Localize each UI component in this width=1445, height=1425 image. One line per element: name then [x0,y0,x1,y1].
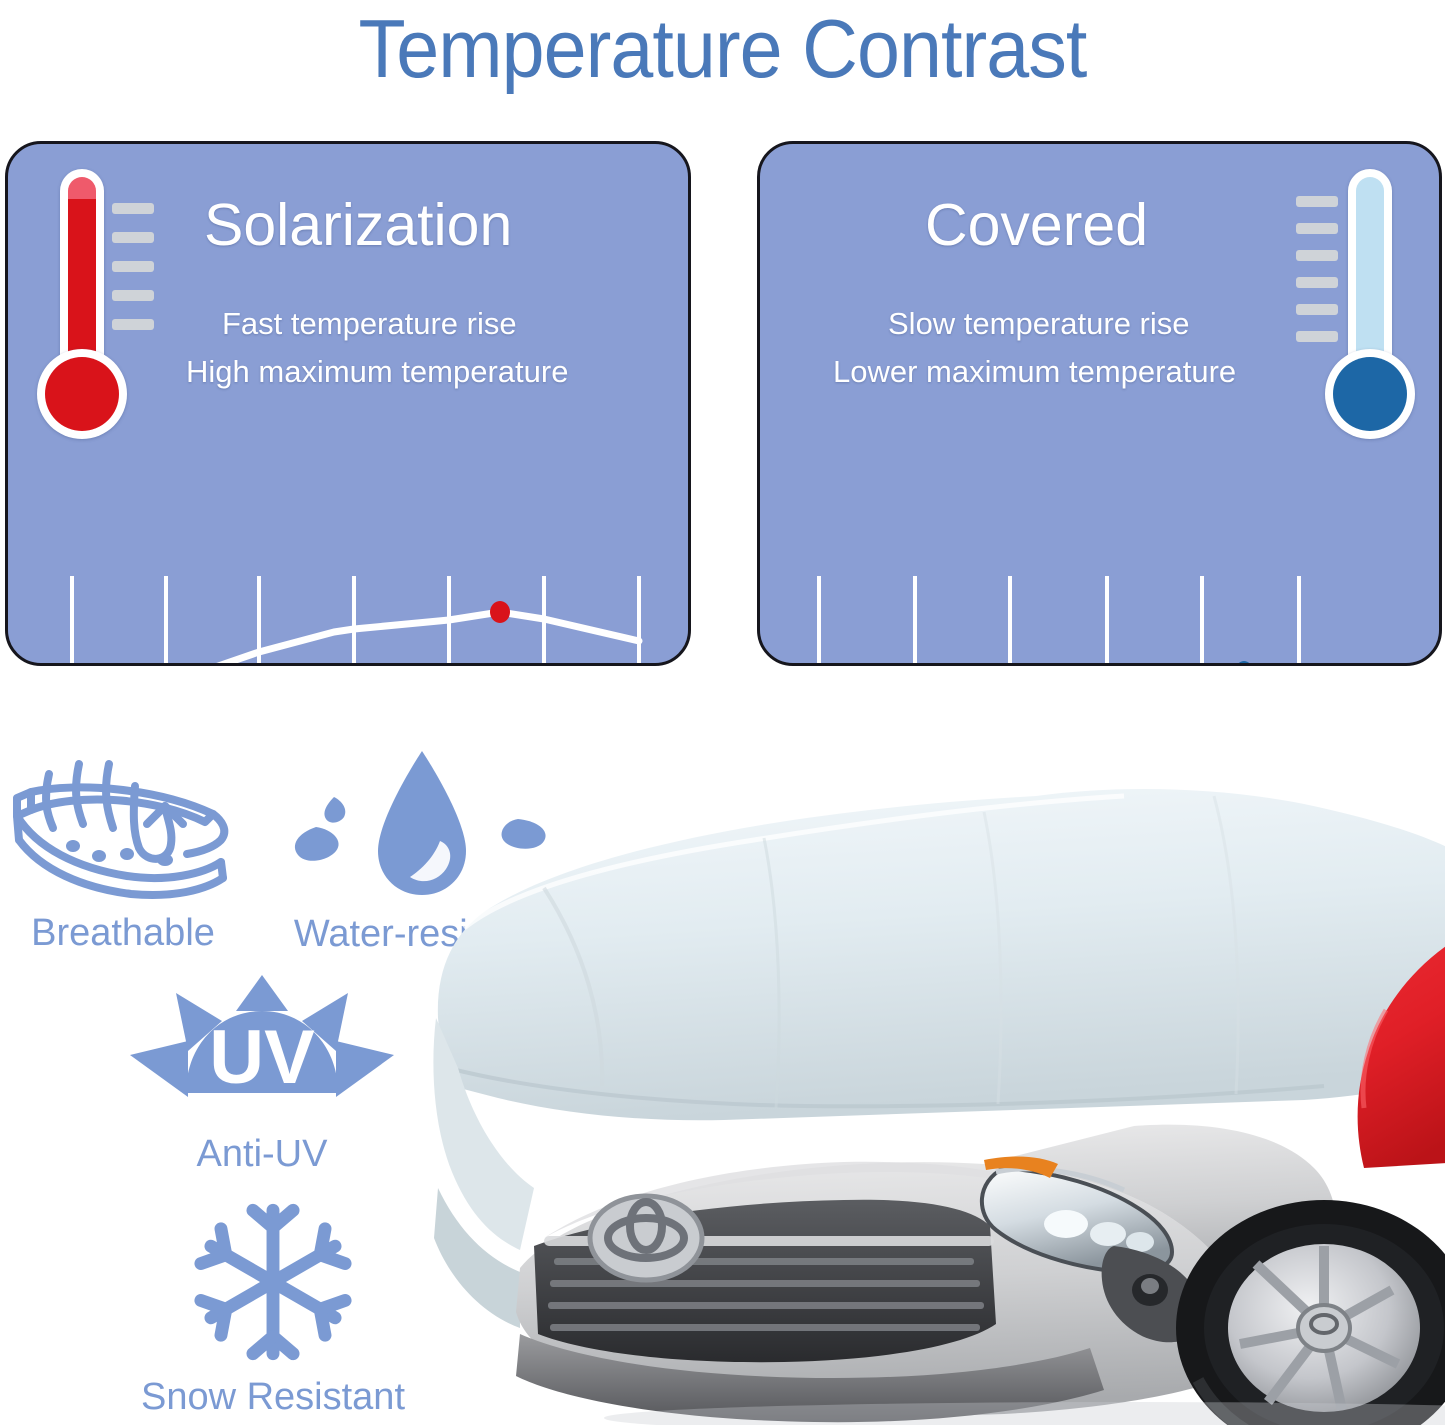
panel-subtext-slow-rise: Slow temperature rise [888,304,1190,344]
suv-with-car-cover-photo [424,768,1445,1425]
chart-solarization: 8:00 10:00 12:00 14:00 16:00 18:00 [48,572,668,666]
chart-line-solarization [76,612,639,666]
panel-subtext-fast-rise: Fast temperature rise [222,304,517,344]
uv-sun-icon: UV [122,975,402,1130]
thermometer-tick [1296,250,1338,261]
feature-label-snow: Snow Resistant [128,1373,418,1421]
panel-subtext-lower-max: Lower maximum temperature [833,352,1236,392]
panel-covered: Covered Slow temperature rise Lower maxi… [757,141,1442,666]
thermometer-tick [1296,196,1338,207]
snowflake-icon [128,1196,418,1373]
chart-gridlines [819,576,1299,666]
thermometer-tick [112,319,154,330]
peak-marker [490,601,510,623]
thermometer-tick [1296,331,1338,342]
feature-label-uv: Anti-UV [122,1130,402,1178]
toyota-emblem [590,1196,702,1280]
uv-icon-text: UV [209,1015,315,1100]
panel-solarization: Solarization Fast temperature rise High … [5,141,691,666]
breathable-fabric-icon [0,752,248,909]
thermometer-tick [112,261,154,272]
thermometer-tick [1296,304,1338,315]
hot-thermometer [30,169,170,459]
thermometer-tick [112,290,154,301]
feature-breathable: Breathable [0,752,248,957]
thermometer-tick [1296,223,1338,234]
cold-thermometer [1288,169,1438,459]
panel-heading-solarization: Solarization [204,193,512,257]
peak-marker [1235,661,1253,666]
feature-snow: Snow Resistant [128,1196,418,1421]
chart-covered: 8:00 10:00 12:00 14:00 16:00 18:00 [798,572,1428,666]
thermometer-tick [112,232,154,243]
page-title: Temperature Contrast [51,0,1395,104]
panel-subtext-high-max: High maximum temperature [186,352,568,392]
thermometer-tick [112,203,154,214]
feature-uv: UV Anti-UV [122,975,402,1178]
panel-heading-covered: Covered [925,193,1148,257]
feature-label-breathable: Breathable [0,909,248,957]
thermometer-tick [1296,277,1338,288]
